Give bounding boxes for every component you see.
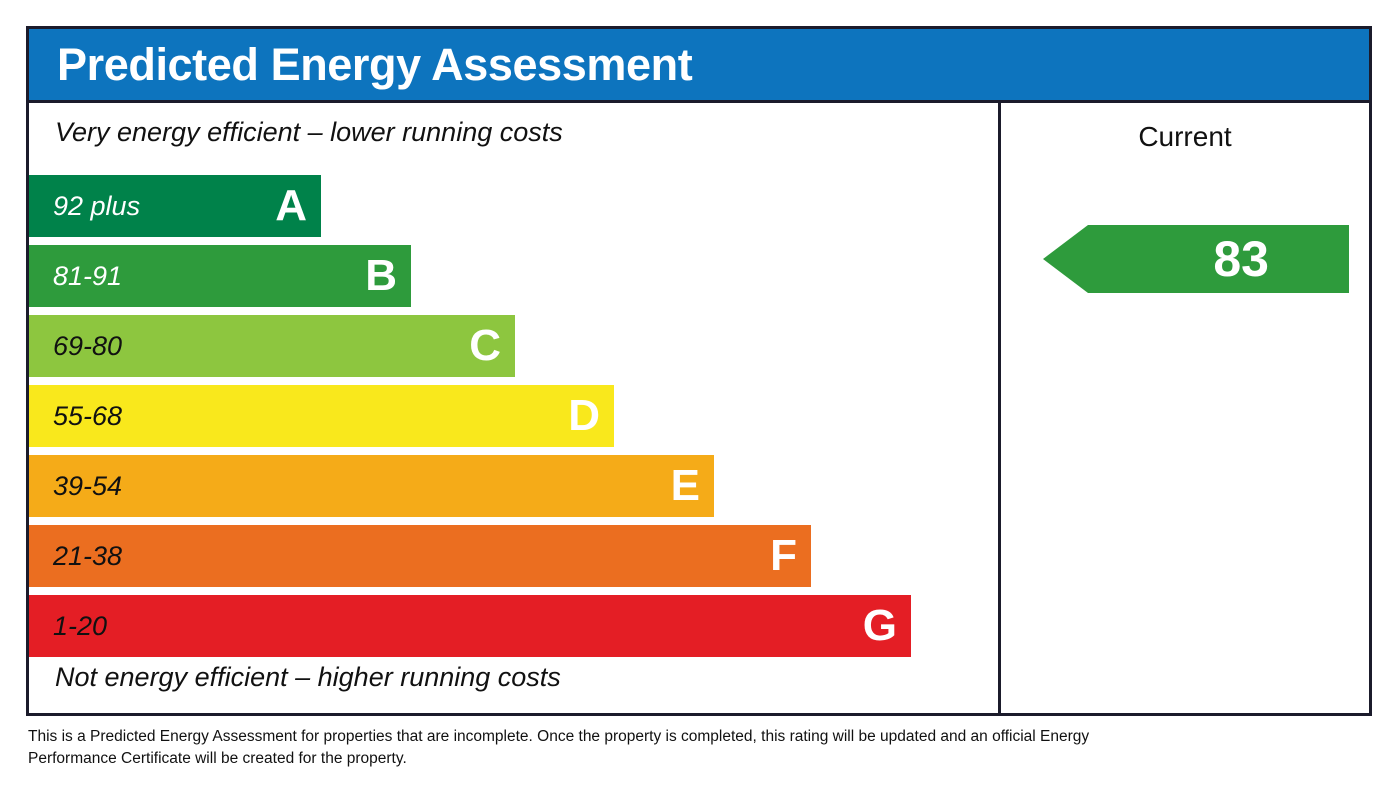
band-letter-label: B — [365, 254, 397, 298]
band-letter-label: D — [568, 394, 600, 438]
very-efficient-label: Very energy efficient – lower running co… — [55, 117, 563, 148]
footnote-text: This is a Predicted Energy Assessment fo… — [28, 726, 1158, 771]
current-column-heading: Current — [1001, 121, 1369, 153]
band-range-label: 39-54 — [53, 471, 122, 502]
certificate-frame: Predicted Energy Assessment Very energy … — [26, 26, 1372, 716]
title-bar: Predicted Energy Assessment — [29, 29, 1369, 103]
rating-band-f: 21-38F — [29, 525, 811, 587]
epc-certificate: Predicted Energy Assessment Very energy … — [0, 0, 1400, 788]
band-range-label: 21-38 — [53, 541, 122, 572]
rating-band-a: 92 plusA — [29, 175, 321, 237]
band-range-label: 69-80 — [53, 331, 122, 362]
rating-band-d: 55-68D — [29, 385, 614, 447]
band-range-label: 81-91 — [53, 261, 122, 292]
band-letter-label: E — [671, 464, 700, 508]
band-range-label: 55-68 — [53, 401, 122, 432]
band-range-label: 1-20 — [53, 611, 107, 642]
rating-band-c: 69-80C — [29, 315, 515, 377]
page-title: Predicted Energy Assessment — [57, 39, 692, 91]
band-letter-label: C — [469, 324, 501, 368]
rating-band-list: 92 plusA81-91B69-80C55-68D39-54E21-38F1-… — [29, 175, 998, 665]
energy-rating-chart: Very energy efficient – lower running co… — [29, 103, 998, 713]
rating-band-b: 81-91B — [29, 245, 411, 307]
band-range-label: 92 plus — [53, 191, 140, 222]
band-letter-label: A — [275, 184, 307, 228]
band-letter-label: F — [770, 534, 797, 578]
rating-band-e: 39-54E — [29, 455, 714, 517]
band-letter-label: G — [863, 604, 897, 648]
certificate-body: Very energy efficient – lower running co… — [29, 103, 1369, 713]
current-rating-column: Current 83 — [1001, 103, 1369, 713]
current-rating-value: 83 — [1213, 234, 1269, 284]
current-rating-arrow: 83 — [1043, 225, 1349, 293]
not-efficient-label: Not energy efficient – higher running co… — [55, 662, 561, 693]
rating-band-g: 1-20G — [29, 595, 911, 657]
